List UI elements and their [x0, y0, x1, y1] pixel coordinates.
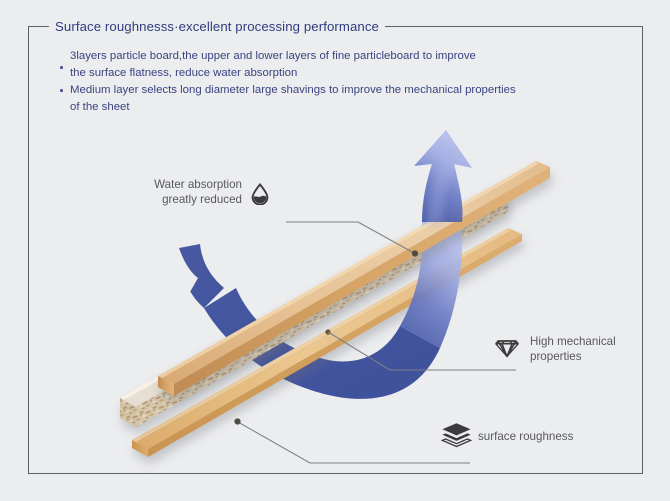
- callout-surface-roughness: surface roughness: [478, 429, 573, 444]
- callout-high-mechanical-properties: High mechanical properties: [530, 334, 616, 365]
- illustration-canvas: Surface roughnesss·excellent processing …: [0, 0, 670, 501]
- bullet-dot-icon: [60, 66, 63, 69]
- bullet-line: Medium layer selects long diameter large…: [70, 82, 618, 99]
- bullet-line: the surface flatness, reduce water absor…: [70, 65, 618, 82]
- page-title: Surface roughnesss·excellent processing …: [55, 18, 379, 36]
- bullet-line: 3layers particle board,the upper and low…: [70, 48, 618, 65]
- callout-line: greatly reduced: [146, 192, 242, 207]
- bullet-line: of the sheet: [70, 99, 618, 116]
- callout-line: High mechanical: [530, 334, 616, 349]
- list-item: Medium layer selects long diameter large…: [58, 82, 618, 115]
- callout-line: Water absorption: [146, 177, 242, 192]
- frame-title-container: Surface roughnesss·excellent processing …: [49, 18, 385, 36]
- list-item: 3layers particle board,the upper and low…: [58, 48, 618, 81]
- water-drop-icon: [250, 183, 270, 205]
- bullet-dot-icon: [60, 89, 63, 92]
- callout-line: surface roughness: [478, 429, 573, 444]
- callout-line: properties: [530, 349, 616, 364]
- callout-water-absorption: Water absorption greatly reduced: [146, 177, 242, 208]
- diamond-icon: [494, 337, 520, 359]
- layers-stack-icon: [441, 422, 472, 449]
- feature-bullet-list: 3layers particle board,the upper and low…: [58, 48, 618, 115]
